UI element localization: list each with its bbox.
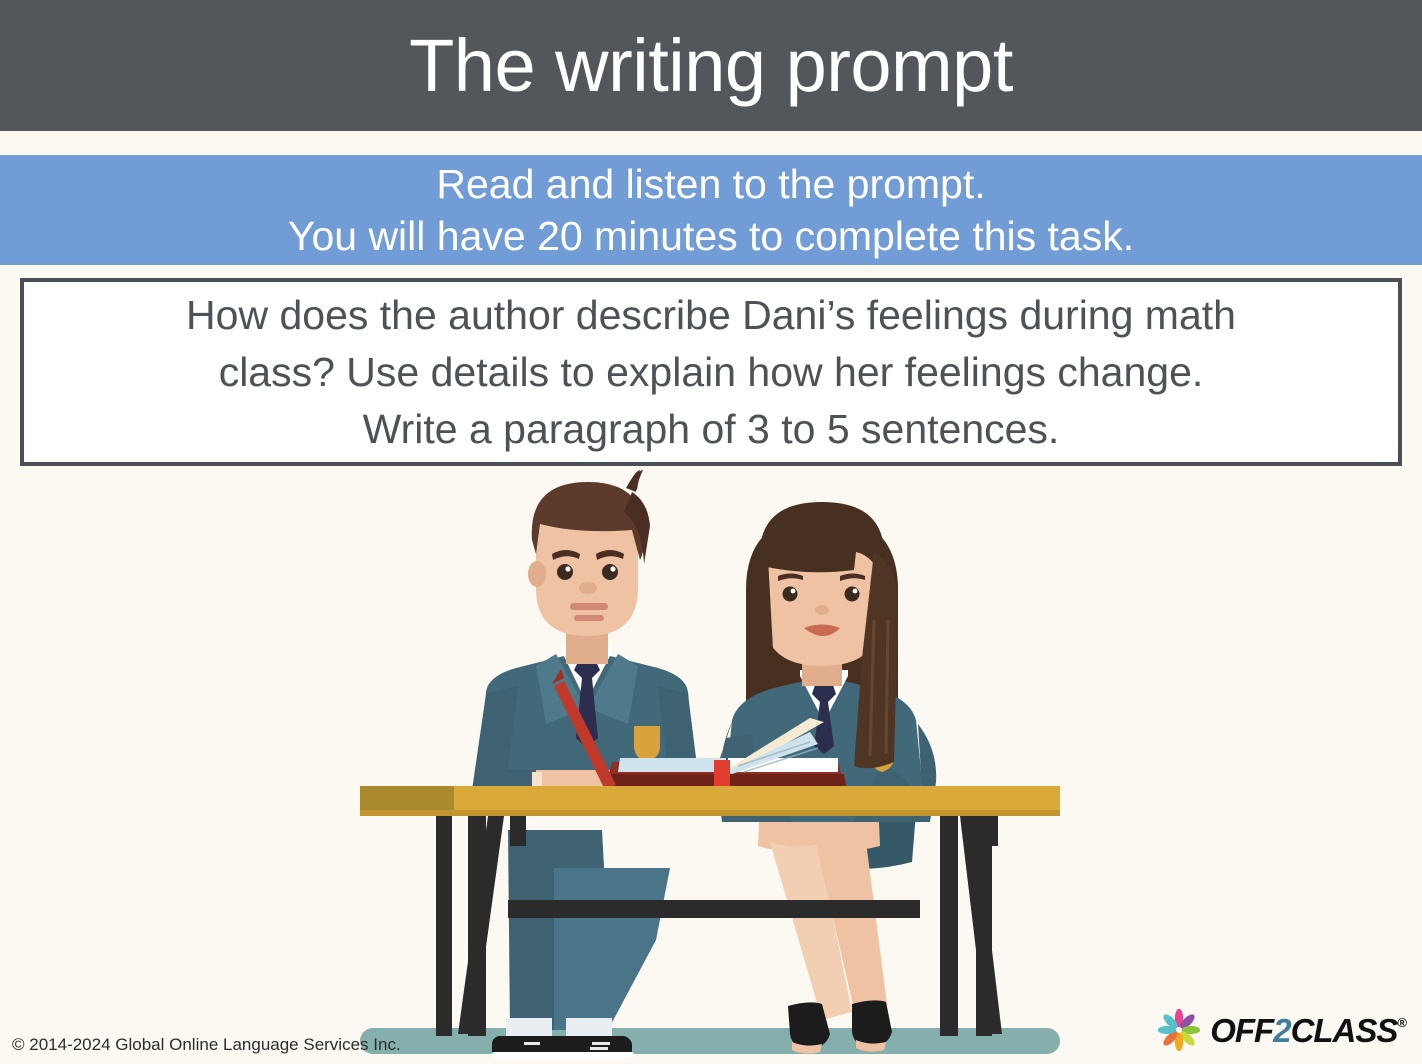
boy-mouth-lower [574,615,604,621]
prompt-line-2: class? Use details to explain how her fe… [219,344,1204,401]
page-title: The writing prompt [409,29,1013,103]
logo-text-off: OFF [1210,1014,1273,1047]
slide-title-bar: The writing prompt [0,0,1422,131]
boy-eye-left [557,564,573,580]
students-illustration-svg [340,470,1100,1064]
boy-crest-badge [634,726,660,762]
instruction-line-2: You will have 20 minutes to complete thi… [288,210,1134,262]
girl-eye-left [783,587,798,602]
logo-text-two: 2 [1273,1014,1290,1047]
girl-eye-right [845,587,860,602]
book-page-left [618,758,726,772]
desk-bench [508,900,920,918]
copyright-notice: © 2014-2024 Global Online Language Servi… [12,1035,401,1055]
off2class-logo[interactable]: OFF2CLASS® [1156,1005,1406,1055]
desk [360,786,1060,1036]
girl-nose [815,605,829,615]
boy-mouth-upper [570,603,608,610]
off2class-pinwheel-icon [1156,1007,1202,1053]
boy-ear [528,561,546,587]
boy-nose [579,582,597,594]
prompt-line-3: Write a paragraph of 3 to 5 sentences. [363,401,1060,458]
instruction-band: Read and listen to the prompt. You will … [0,155,1422,265]
boy-eye-right [602,564,618,580]
prompt-line-1: How does the author describe Dani’s feel… [186,287,1236,344]
writing-prompt-box: How does the author describe Dani’s feel… [20,278,1402,466]
two-students-at-desk-illustration [340,470,1100,1064]
logo-text-class: CLASS [1291,1014,1398,1047]
instruction-line-1: Read and listen to the prompt. [436,158,985,210]
off2class-wordmark: OFF2CLASS® [1210,1014,1406,1047]
registered-trademark-icon: ® [1397,1016,1406,1029]
desk-edge [360,810,1060,816]
boy-leg-front [554,868,670,1030]
